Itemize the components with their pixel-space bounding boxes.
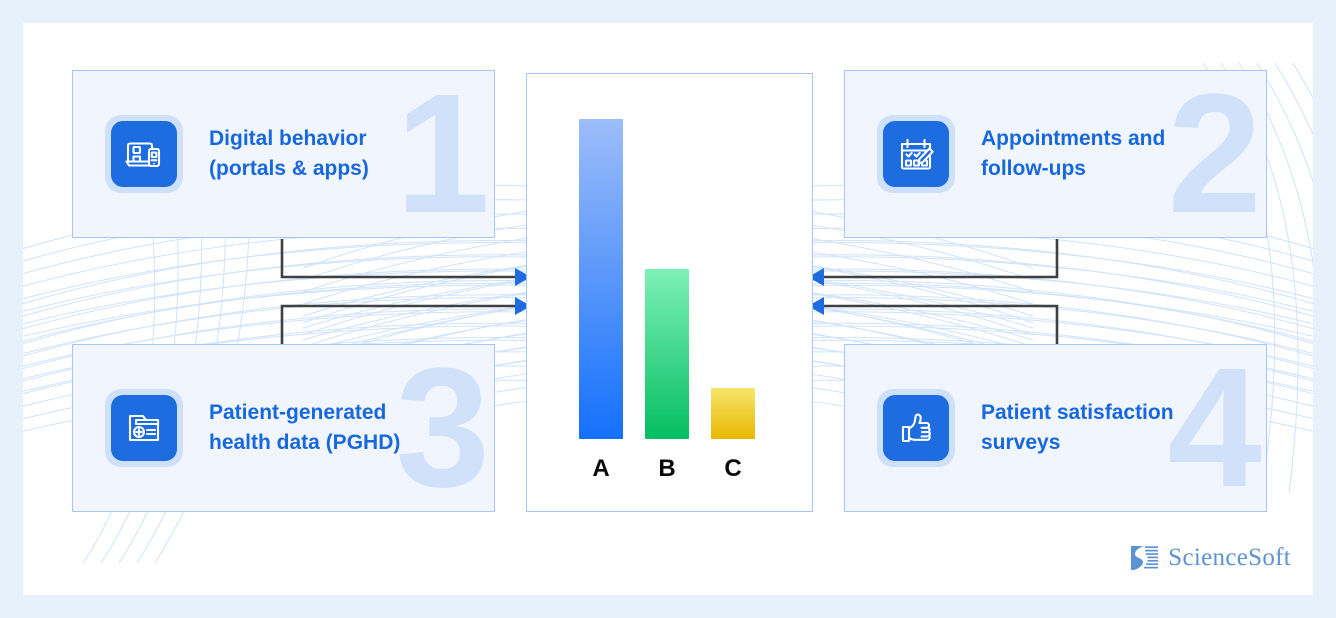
connector-digital-behavior — [282, 239, 515, 277]
card-title: Patient satisfaction surveys — [981, 398, 1174, 459]
icon-tile — [111, 121, 177, 187]
card-pghd[interactable]: 3 Patient-generated health data (PGHD) — [72, 344, 495, 512]
icon-tile — [883, 121, 949, 187]
sciencesoft-s-mark — [1127, 541, 1161, 575]
card-appointments[interactable]: 2 — [844, 70, 1267, 238]
card-patient-satisfaction[interactable]: 4 Patient satisfaction surveys — [844, 344, 1267, 512]
laptop-mobile-icon — [123, 133, 165, 175]
bar-group-c: C — [711, 388, 755, 439]
bar-label-a: A — [592, 455, 609, 483]
sciencesoft-logo: ScienceSoft — [1127, 541, 1291, 575]
card-content: Appointments and follow-ups — [845, 71, 1266, 237]
icon-tile — [883, 395, 949, 461]
infographic-stage: 1 — [0, 0, 1336, 618]
icon-tile — [111, 395, 177, 461]
thumbs-up-icon — [895, 407, 937, 449]
bar-group-b: B — [645, 269, 689, 439]
connector-satisfaction — [824, 306, 1057, 344]
bar-b — [645, 269, 689, 439]
card-content: Patient satisfaction surveys — [845, 345, 1266, 511]
bar-chart-panel: A B C — [526, 73, 813, 512]
card-title: Patient-generated health data (PGHD) — [209, 398, 400, 459]
icon-halo — [877, 115, 955, 193]
card-title: Digital behavior (portals & apps) — [209, 124, 369, 185]
infographic-canvas: 1 — [23, 23, 1313, 595]
bar-label-c: C — [724, 455, 741, 483]
calendar-pencil-icon — [895, 133, 937, 175]
card-content: Digital behavior (portals & apps) — [73, 71, 494, 237]
bar-group-a: A — [579, 119, 623, 439]
bar-c — [711, 388, 755, 439]
icon-halo — [877, 389, 955, 467]
connector-pghd — [282, 306, 515, 344]
icon-halo — [105, 115, 183, 193]
card-digital-behavior[interactable]: 1 — [72, 70, 495, 238]
bar-label-b: B — [658, 455, 675, 483]
icon-halo — [105, 389, 183, 467]
folder-plus-icon — [123, 407, 165, 449]
connector-appointments — [824, 239, 1057, 277]
card-content: Patient-generated health data (PGHD) — [73, 345, 494, 511]
bar-a — [579, 119, 623, 439]
card-title: Appointments and follow-ups — [981, 124, 1165, 185]
bar-chart-plot-area: A B C — [557, 119, 782, 439]
sciencesoft-logo-text: ScienceSoft — [1168, 544, 1291, 572]
